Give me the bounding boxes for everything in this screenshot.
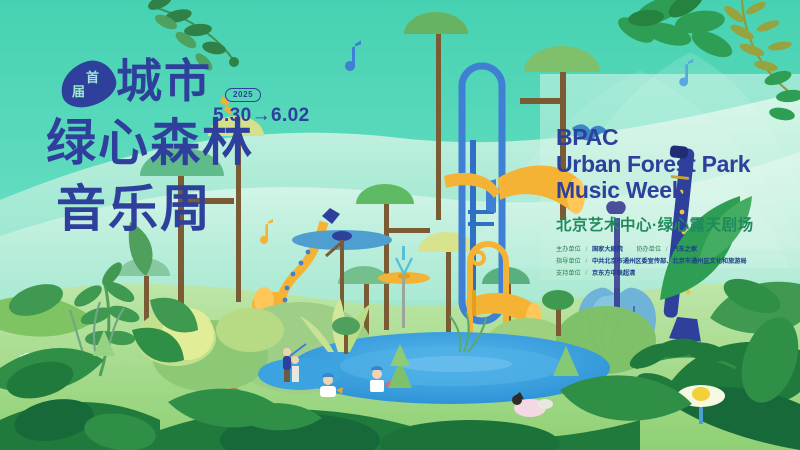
date-range: 5.30→6.02: [213, 105, 310, 127]
info-panel: BPAC Urban Forest Park Music Week 北京艺术中心…: [556, 124, 796, 280]
credit-label: 协办单位: [636, 246, 661, 253]
credit-separator: /: [585, 270, 587, 277]
title-en-line-2: Urban Forest Park: [556, 151, 796, 178]
poster-root: 首 届 城市 绿心森林 音乐周 2025 5.30→6.02 BPAC Urba…: [0, 0, 800, 450]
badge-char-2: 届: [72, 85, 85, 98]
first-edition-badge: 首 届: [60, 62, 116, 106]
credit-separator: /: [585, 246, 587, 253]
credit-row: 指导单位 / 中共北京市通州区委宣传部、北京市通州区文化和旅游局: [556, 256, 796, 268]
credit-label: 指导单位: [556, 258, 581, 265]
date-block: 2025 5.30→6.02: [213, 84, 310, 127]
credit-separator: /: [666, 246, 668, 253]
venue-text: 北京艺术中心·绿心露天剧场: [556, 213, 796, 235]
title-en-line-3: Music Week: [556, 177, 796, 204]
title-cn-line-3: 音乐周: [56, 184, 344, 234]
year-badge: 2025: [225, 88, 261, 102]
credit-value: 国家大剧院: [592, 246, 623, 253]
credit-label: 主办单位: [556, 246, 581, 253]
credit-value: 京东方中联超清: [592, 270, 635, 277]
credit-row: 主办单位 / 国家大剧院 协办单位 / 汽车之家: [556, 244, 796, 256]
credit-row: 支持单位 / 京东方中联超清: [556, 268, 796, 280]
title-en-line-1: BPAC: [556, 124, 796, 151]
badge-char-1: 首: [86, 71, 99, 84]
credit-value: 汽车之家: [672, 246, 697, 253]
credits-block: 主办单位 / 国家大剧院 协办单位 / 汽车之家 指导单位 / 中共北京市通州区…: [556, 244, 796, 280]
credit-value: 中共北京市通州区委宣传部、北京市通州区文化和旅游局: [592, 258, 747, 265]
credit-label: 支持单位: [556, 270, 581, 277]
credit-separator: /: [585, 258, 587, 265]
